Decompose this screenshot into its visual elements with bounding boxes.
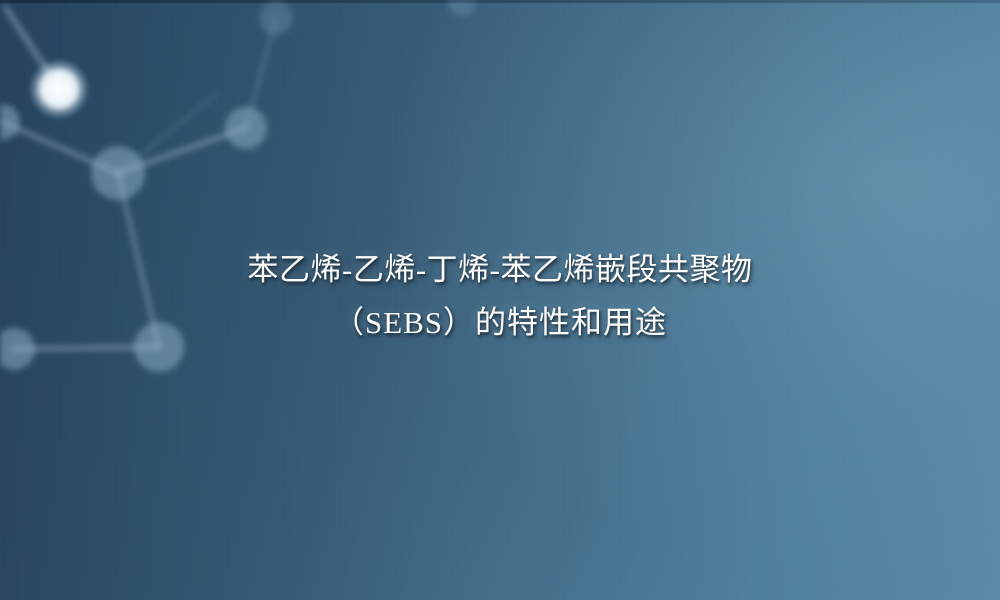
title-line-2: （SEBS）的特性和用途	[0, 296, 1000, 349]
title-slide: 苯乙烯-乙烯-丁烯-苯乙烯嵌段共聚物 （SEBS）的特性和用途	[0, 0, 1000, 600]
slide-title: 苯乙烯-乙烯-丁烯-苯乙烯嵌段共聚物 （SEBS）的特性和用途	[0, 243, 1000, 349]
top-edge-strip	[0, 0, 1000, 3]
bright-node-glow	[30, 60, 88, 118]
title-line-1: 苯乙烯-乙烯-丁烯-苯乙烯嵌段共聚物	[0, 243, 1000, 296]
